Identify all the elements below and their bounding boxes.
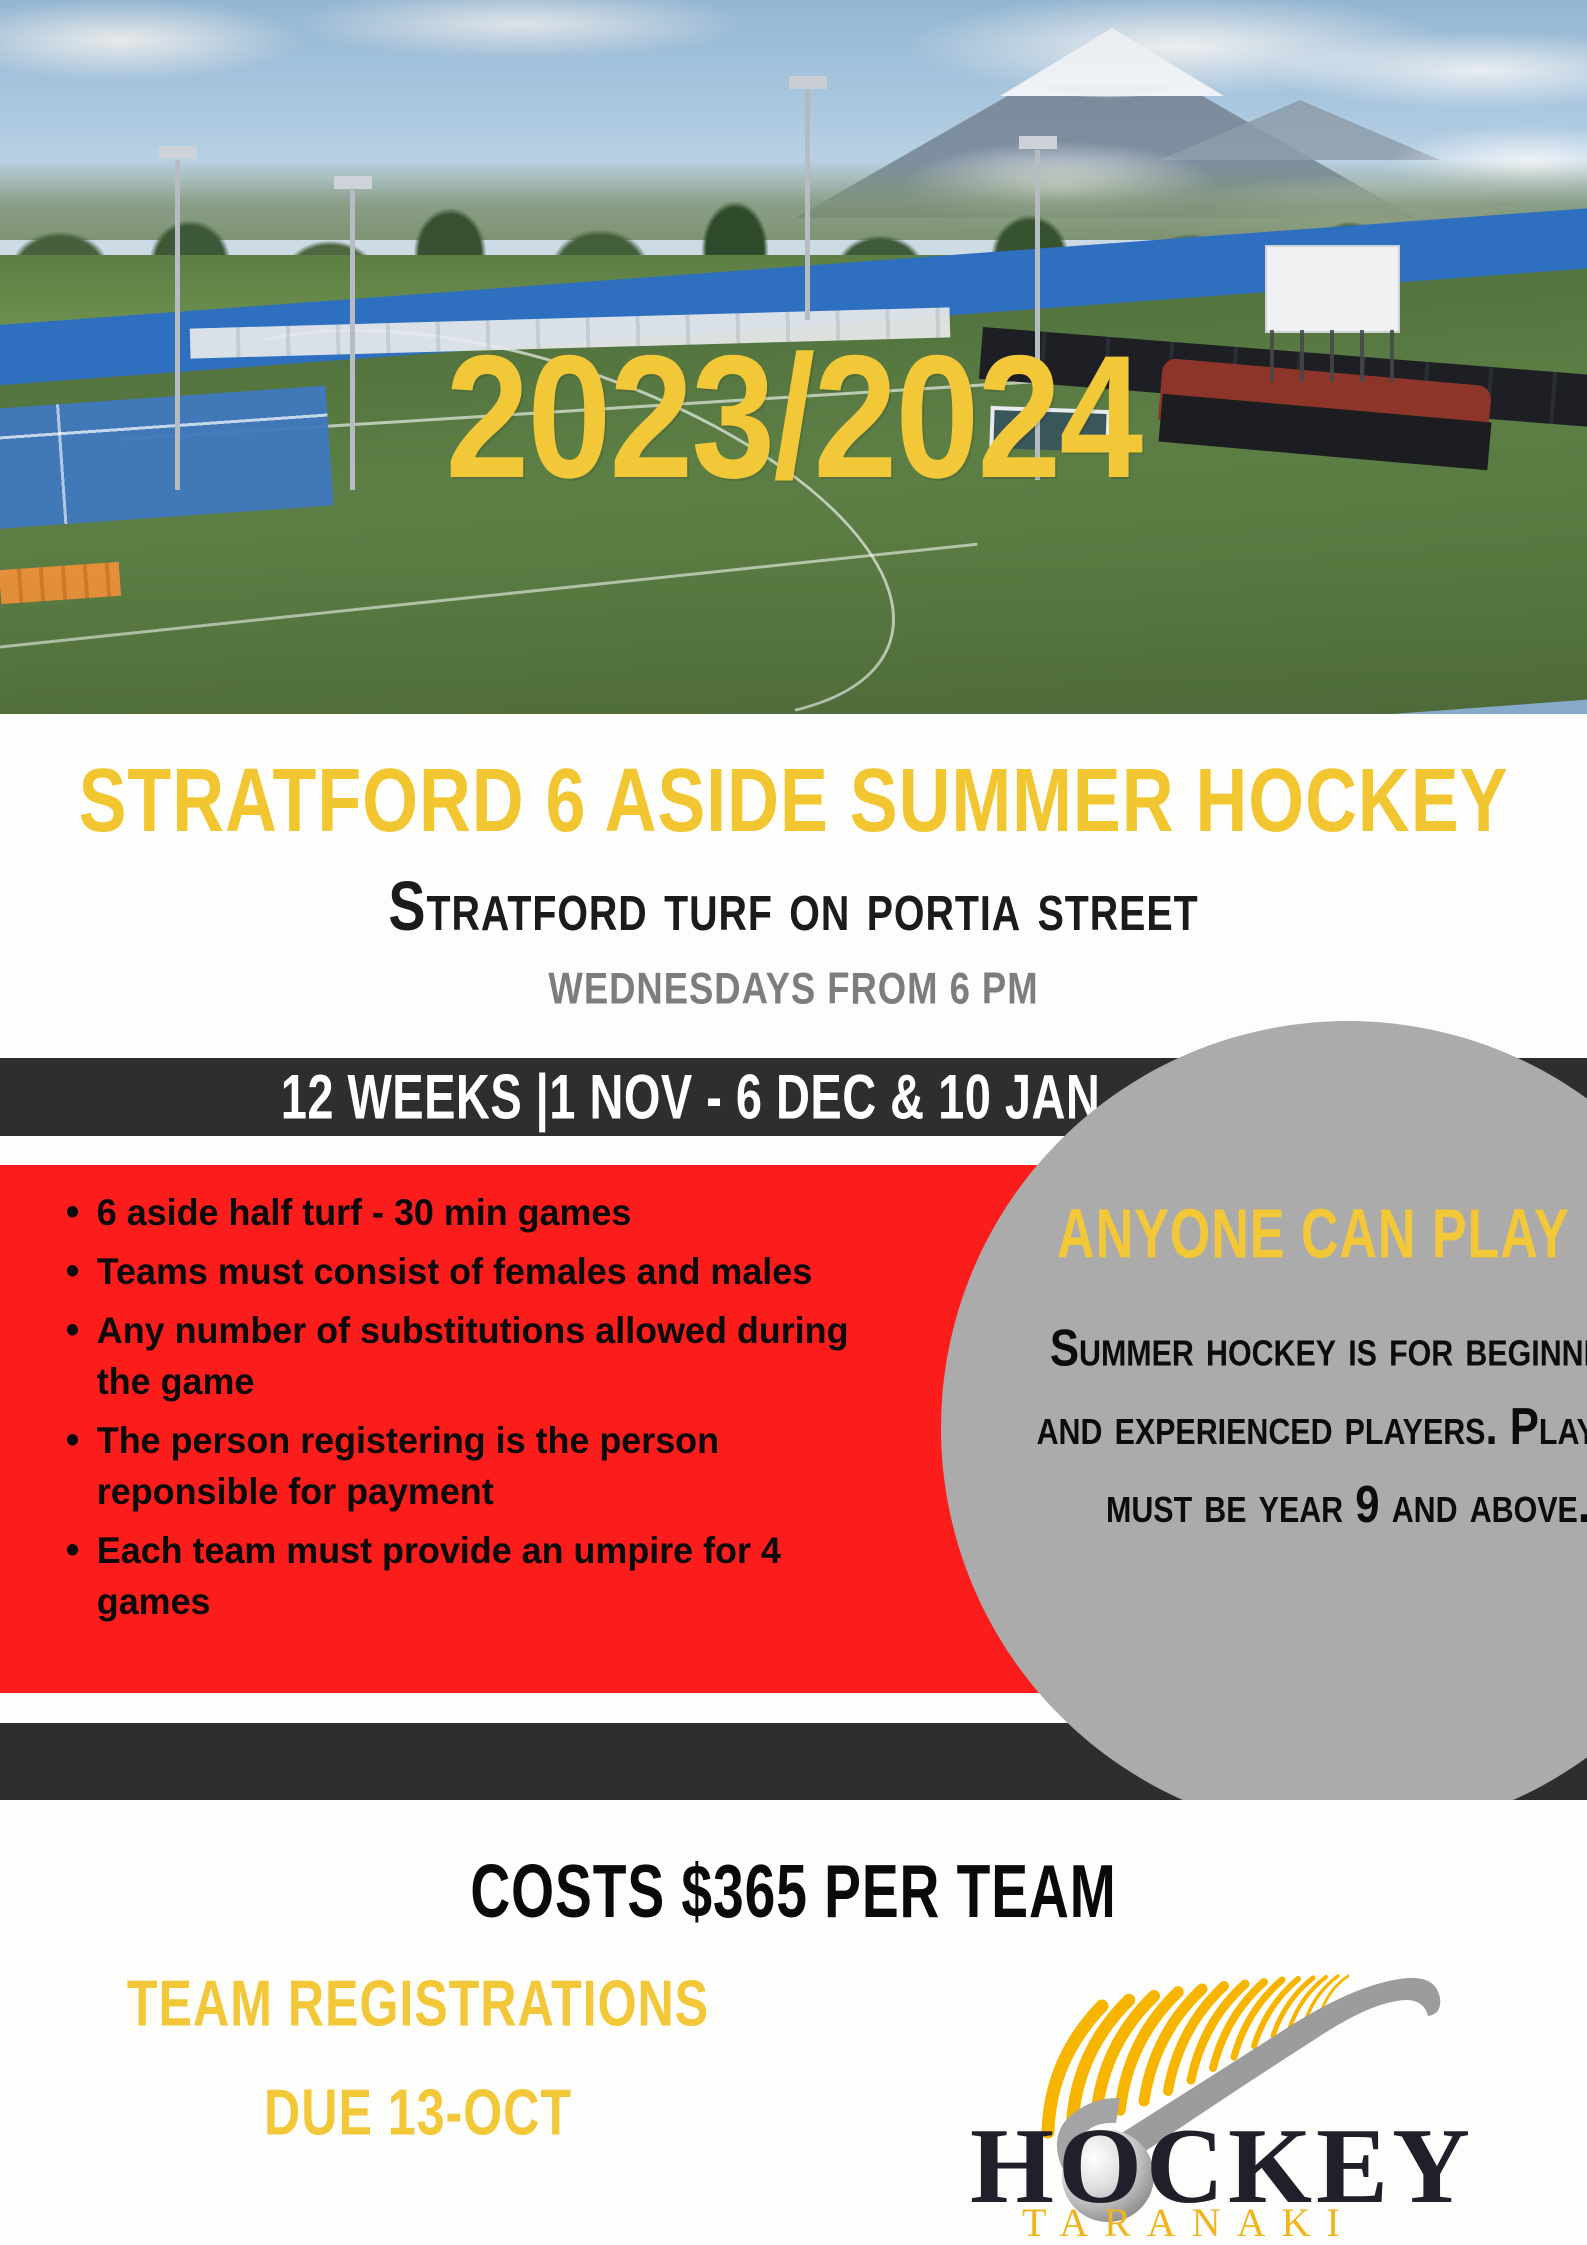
registration-block: Team registrations due 13-Oct: [83, 1950, 753, 2168]
registration-line-2: due 13-Oct: [83, 2059, 753, 2168]
callout-content: Anyone can play !!! Summer hockey is for…: [941, 1021, 1587, 1835]
list-item: Each team must provide an umpire for 4 g…: [58, 1525, 873, 1627]
registration-line-1: Team registrations: [83, 1950, 753, 2059]
season-year-text: 2023/2024: [111, 330, 1476, 505]
logo-wordmark-taranaki: TARANAKI: [1022, 2200, 1356, 2240]
list-item: Teams must consist of females and males: [58, 1246, 873, 1297]
callout-circle: Anyone can play !!! Summer hockey is for…: [941, 1021, 1587, 1835]
heading-band: Stratford 6 aside summer hockey Stratfor…: [0, 714, 1587, 1058]
hero-photo: 2023/2024: [0, 0, 1587, 714]
hockey-taranaki-logo: HOCKEY TARANAKI HOCKEY TARANAKI: [930, 1940, 1540, 2240]
page-title: Stratford 6 aside summer hockey: [24, 754, 1563, 846]
list-item: The person registering is the person rep…: [58, 1415, 873, 1517]
list-item: 6 aside half turf - 30 min games: [58, 1187, 873, 1238]
rules-list: 6 aside half turf - 30 min games Teams m…: [58, 1187, 898, 1627]
list-item: Any number of substitutions allowed duri…: [58, 1305, 873, 1407]
callout-heading: Anyone can play !!!: [969, 1193, 1587, 1274]
poster-root: 2023/2024 Stratford 6 aside summer hocke…: [0, 0, 1587, 2245]
callout-body: Summer hockey is for beginners and exper…: [1035, 1309, 1587, 1544]
venue-subtitle: Stratford turf on portia street: [32, 871, 1556, 942]
schedule-time: Wednesdays from 6 pm: [32, 967, 1556, 1012]
cost-text: costs $365 per team: [63, 1785, 1523, 1935]
